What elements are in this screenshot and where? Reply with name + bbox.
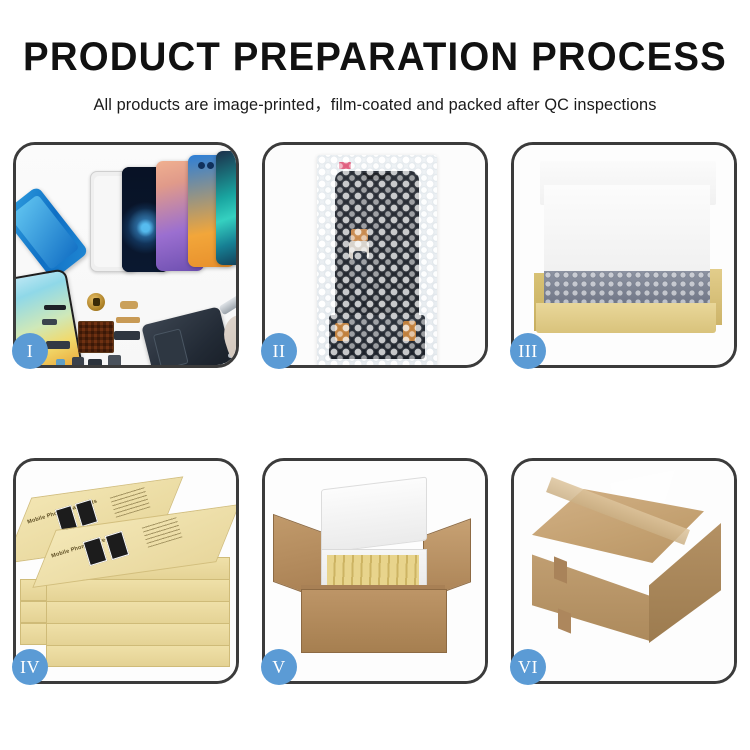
step-badge-4: IV [12,649,48,685]
spare-part [46,341,70,349]
step-panel-3[interactable]: III [511,142,737,368]
step-image-6 [514,461,734,681]
flex-connector-pad [351,229,368,241]
connector-gold-left [335,323,349,341]
spare-part [114,331,140,340]
box-front-panel [536,303,716,333]
spare-part [116,317,140,323]
phone-screen-teal [216,151,236,265]
step-badge-3: III [510,333,546,369]
step-badge-5: V [261,649,297,685]
chip-grid-part [78,321,114,353]
spare-part [88,359,102,365]
bubble-wrap-bag [317,155,437,365]
pink-label-tab [339,162,351,169]
step-image-1 [16,145,236,365]
carton-tab [554,556,567,583]
spare-part [56,359,65,365]
connector-gold-right [403,321,416,341]
steps-grid: I II [13,142,737,687]
step-badge-6: VI [510,649,546,685]
spare-part [72,357,84,365]
step-panel-1[interactable]: I [13,142,239,368]
step-image-2 [265,145,485,365]
step-badge-1: I [12,333,48,369]
bubble-wrapped-contents [544,271,710,307]
retail-box [46,645,230,667]
page-title: PRODUCT PREPARATION PROCESS [15,0,735,77]
carton-left-face [532,547,650,641]
repair-tool [219,285,236,316]
step-panel-2[interactable]: II [262,142,488,368]
copper-coil-part [87,293,105,311]
foam-box-lid [321,476,427,553]
screw-part [222,363,227,365]
step-panel-6[interactable]: VI [511,458,737,684]
flex-cable [353,251,367,323]
spare-part [42,319,57,325]
poster-root: PRODUCT PREPARATION PROCESS All products… [0,0,750,750]
step-image-4: Mobile Phone Spare Parts Mobile Phone Sp… [16,461,236,681]
foam-sheet [544,185,710,275]
camera-punch-hole-icon [198,162,205,169]
spare-part [44,305,66,310]
step-panel-5[interactable]: V [262,458,488,684]
carton-tab [558,608,571,633]
lcd-screen [335,171,419,331]
retail-box [46,579,230,603]
carton-front-panel [301,589,447,653]
retail-box [46,623,230,647]
step-image-5 [265,461,485,681]
spare-part [120,301,138,309]
header: PRODUCT PREPARATION PROCESS All products… [0,0,750,115]
retail-box [46,601,230,625]
step-image-3 [514,145,734,365]
spare-part [108,355,121,365]
camera-punch-hole-icon [207,162,214,169]
phone-screen-blue [16,186,89,281]
page-subtitle: All products are image-printed，film-coat… [4,77,747,115]
step-panel-4[interactable]: Mobile Phone Spare Parts Mobile Phone Sp… [13,458,239,684]
phone-back-housing [141,306,235,365]
step-badge-2: II [261,333,297,369]
